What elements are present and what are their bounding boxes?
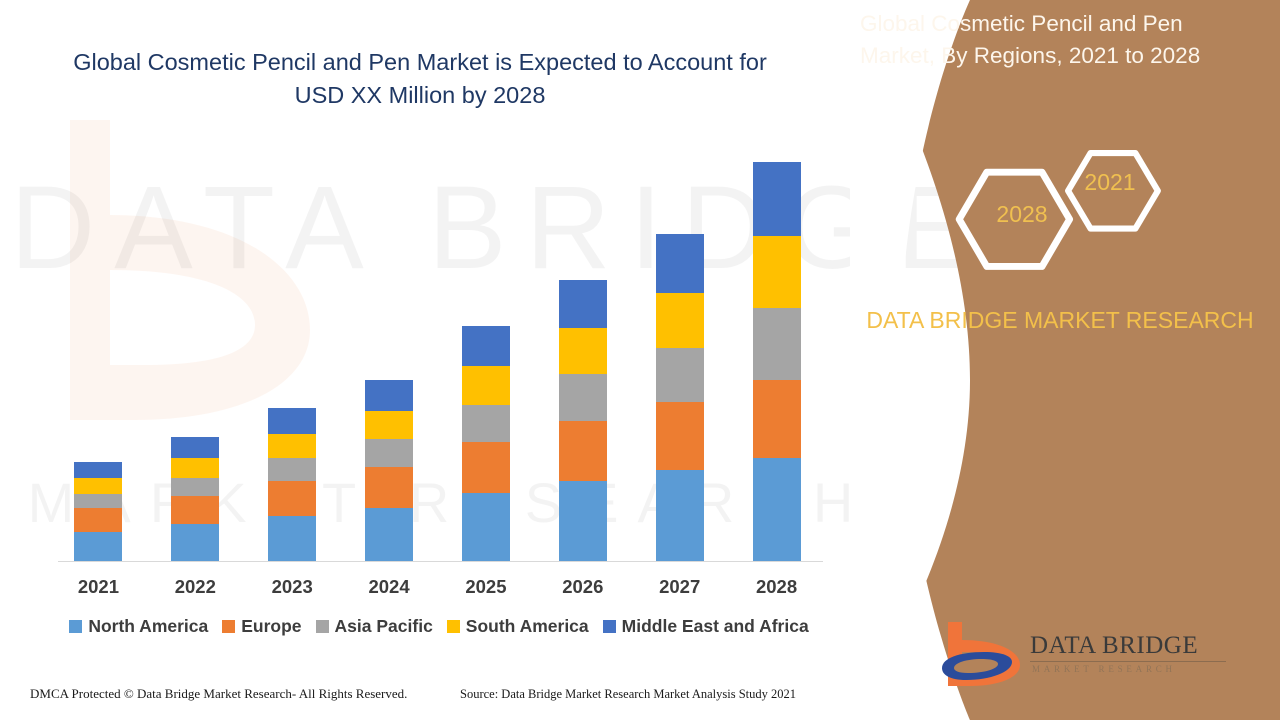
brand-panel-shape [810,0,1280,720]
bar-column [365,150,413,561]
bar-segment [462,442,510,493]
legend-item[interactable]: Europe [222,616,301,637]
bar-segment [268,458,316,481]
legend-swatch-icon [316,620,329,633]
chart-headline: Global Cosmetic Pencil and Pen Market is… [60,46,780,113]
bar-column [559,150,607,561]
bar-segment [462,405,510,442]
bar-segment [656,234,704,292]
bar-column [171,150,219,561]
bar-segment [365,439,413,467]
x-axis-label: 2025 [462,576,510,598]
bar-segment [74,508,122,532]
bar-segment [559,328,607,374]
data-bridge-logo-text: DATA BRIDGE [1030,632,1198,660]
bar-segment [365,467,413,507]
legend-label: South America [466,616,589,637]
legend-label: North America [88,616,208,637]
legend-label: Middle East and Africa [622,616,809,637]
bar-segment [656,470,704,561]
hexagon-2021-label: 2021 [1060,169,1160,196]
bar-segment [656,348,704,402]
bar-segment [268,434,316,459]
hexagon-badges: 2028 2021 [950,148,1270,278]
bar-column [656,150,704,561]
bar-column [462,150,510,561]
right-brand-panel: Global Cosmetic Pencil and Pen Market, B… [810,0,1280,720]
bar-segment [268,481,316,516]
brand-name-text: DATA BRIDGE MARKET RESEARCH [810,305,1280,336]
x-axis-label: 2024 [365,576,413,598]
panel-title: Global Cosmetic Pencil and Pen Market, B… [810,8,1240,72]
chart-bars-container [50,150,825,561]
bar-segment [656,402,704,470]
slide-canvas: DATA BRIDGE MARKET RESEARCH Global Cosme… [0,0,1280,720]
legend-item[interactable]: North America [69,616,208,637]
x-axis-label: 2023 [268,576,316,598]
legend-swatch-icon [447,620,460,633]
legend-item[interactable]: Asia Pacific [316,616,433,637]
bar-segment [365,411,413,440]
legend-swatch-icon [69,620,82,633]
x-axis-label: 2021 [74,576,122,598]
bar-column [753,150,801,561]
data-bridge-logo-rule [1030,661,1226,662]
footer-dmca-notice: DMCA Protected © Data Bridge Market Rese… [30,686,407,702]
bar-segment [753,236,801,308]
bar-segment [171,524,219,561]
bar-segment [74,478,122,494]
bar-segment [365,508,413,561]
bar-segment [268,516,316,561]
legend-item[interactable]: South America [447,616,589,637]
hexagon-2028-label: 2028 [968,201,1076,228]
x-axis-label: 2028 [753,576,801,598]
bar-segment [753,458,801,561]
chart-x-axis-line [58,561,823,562]
x-axis-label: 2022 [171,576,219,598]
chart-legend: North AmericaEuropeAsia PacificSouth Ame… [50,616,828,637]
bar-segment [462,493,510,561]
bar-segment [559,421,607,481]
legend-swatch-icon [603,620,616,633]
data-bridge-logo-subtext: MARKET RESEARCH [1032,664,1176,674]
bar-segment [753,162,801,236]
bar-segment [74,532,122,561]
bar-segment [462,326,510,366]
bar-segment [74,494,122,508]
bar-segment [753,380,801,458]
bar-segment [559,481,607,561]
bar-segment [462,366,510,405]
bar-column [74,150,122,561]
bar-segment [559,374,607,421]
x-axis-label: 2027 [656,576,704,598]
bar-segment [171,478,219,496]
bar-segment [559,280,607,328]
legend-swatch-icon [222,620,235,633]
bar-segment [753,308,801,380]
bar-segment [74,462,122,478]
bar-segment [171,496,219,525]
bar-segment [268,408,316,433]
legend-label: Europe [241,616,301,637]
legend-label: Asia Pacific [335,616,433,637]
legend-item[interactable]: Middle East and Africa [603,616,809,637]
bar-column [268,150,316,561]
bar-segment [365,380,413,411]
bar-segment [656,293,704,348]
bar-segment [171,458,219,478]
data-bridge-logo: DATA BRIDGE MARKET RESEARCH [940,622,1260,700]
bar-segment [171,437,219,458]
data-bridge-mark-icon [940,622,1030,694]
x-axis-label: 2026 [559,576,607,598]
stacked-bar-chart [50,150,825,562]
footer-source-note: Source: Data Bridge Market Research Mark… [460,687,796,702]
chart-x-axis-labels: 20212022202320242025202620272028 [50,572,825,602]
